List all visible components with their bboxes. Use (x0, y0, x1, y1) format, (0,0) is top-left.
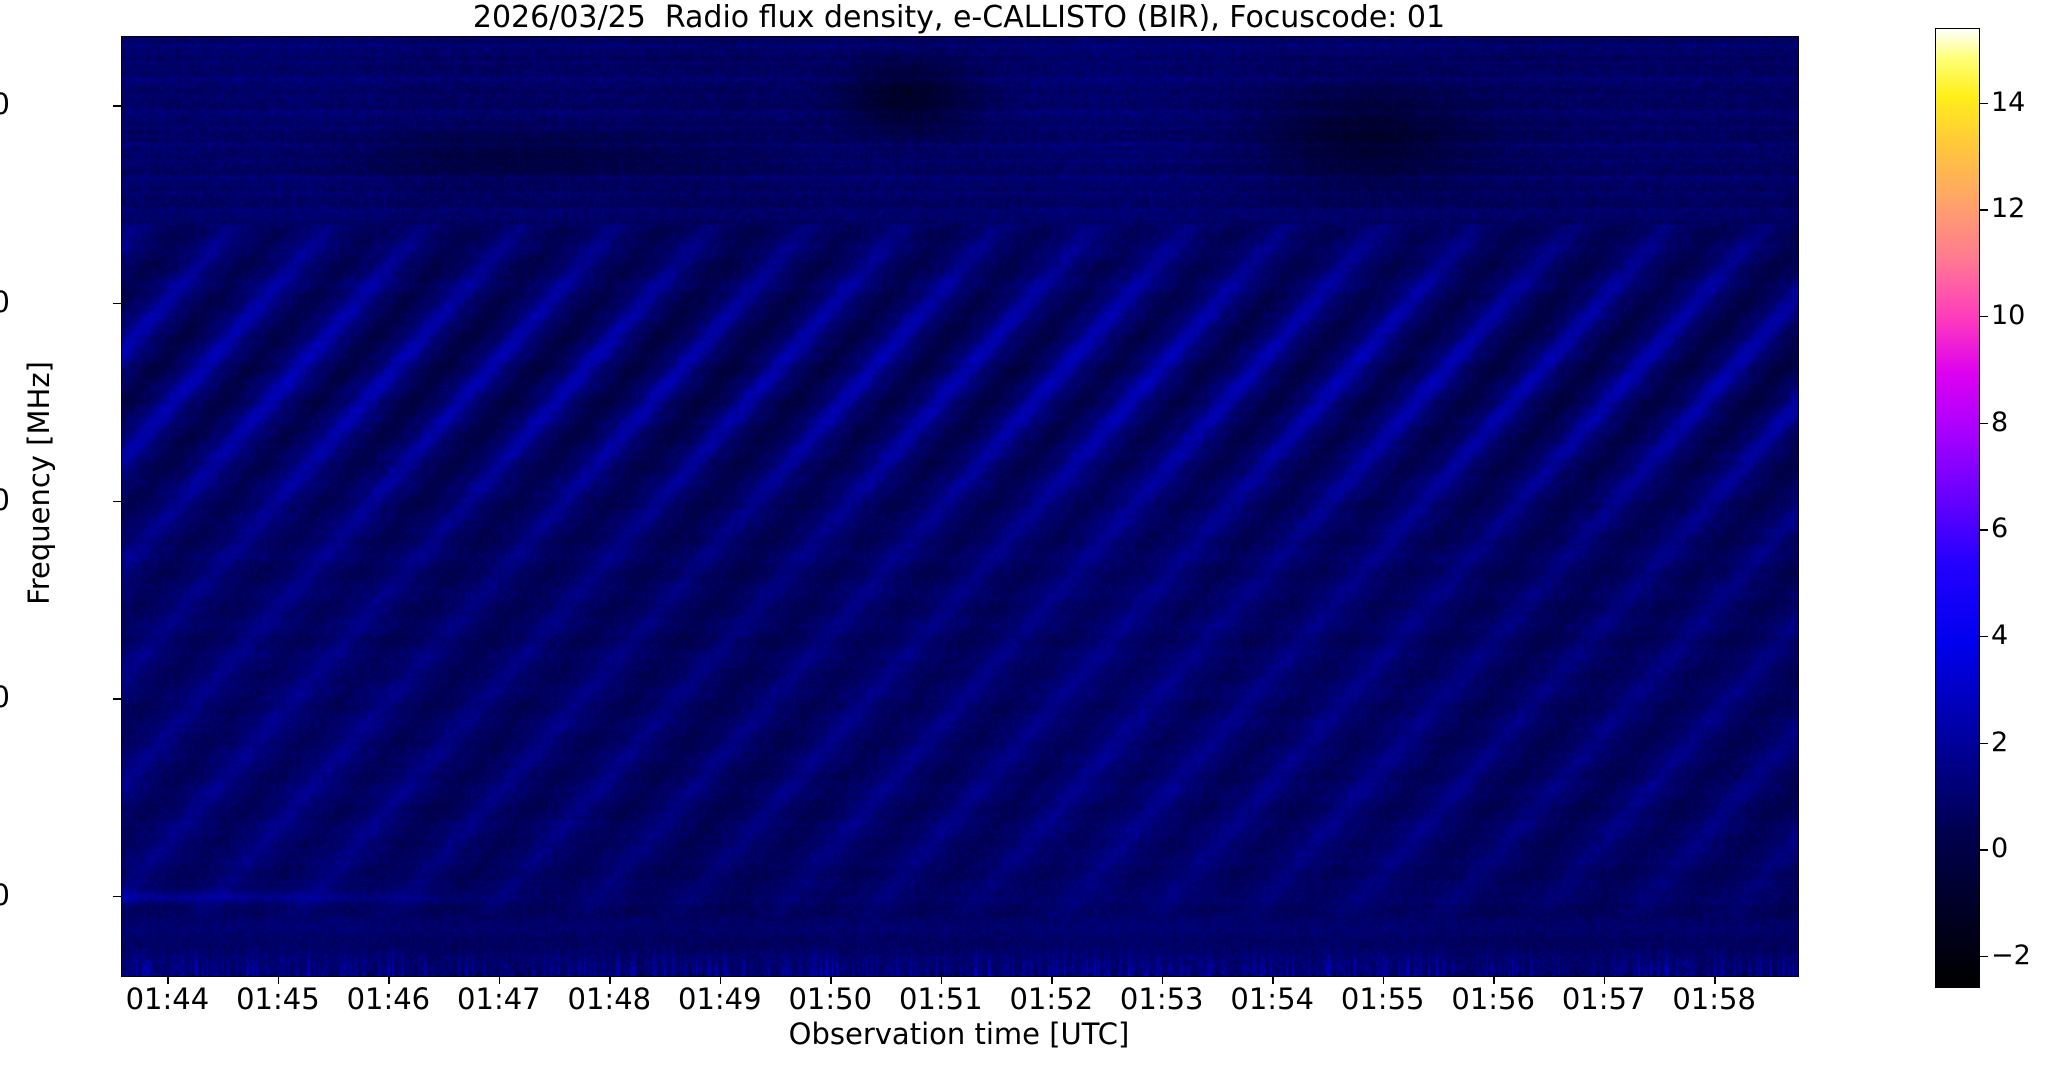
colorbar-tick-mark (1980, 103, 1988, 104)
y-tick-mark (113, 501, 121, 502)
y-tick-label: 60 (0, 486, 10, 515)
y-axis-label: Frequency [MHz] (22, 163, 56, 803)
colorbar-tick-label: 8 (1991, 409, 2066, 436)
colorbar-tick-mark (1980, 636, 1988, 637)
colorbar-tick-mark (1980, 743, 1988, 744)
y-tick-label: 80 (0, 288, 10, 317)
colorbar (1935, 28, 1980, 988)
x-tick-mark (1714, 976, 1715, 984)
colorbar-gradient (1935, 28, 1980, 988)
x-tick-mark (499, 976, 500, 984)
colorbar-tick-label: 12 (1991, 195, 2066, 222)
x-tick-mark (609, 976, 610, 984)
y-tick-label: 40 (0, 683, 10, 712)
y-tick-mark (113, 105, 121, 106)
colorbar-tick-label: 6 (1991, 515, 2066, 542)
y-tick-label: 100 (0, 90, 10, 119)
x-tick-mark (1604, 976, 1605, 984)
colorbar-tick-label: 4 (1991, 622, 2066, 649)
y-tick-mark (113, 303, 121, 304)
x-tick-mark (1162, 976, 1163, 984)
y-tick-mark (113, 896, 121, 897)
x-tick-mark (1051, 976, 1052, 984)
x-tick-mark (167, 976, 168, 984)
colorbar-tick-label: 0 (1991, 835, 2066, 862)
x-tick-mark (388, 976, 389, 984)
colorbar-tick-label: 14 (1991, 89, 2066, 116)
colorbar-tick-mark (1980, 529, 1988, 530)
colorbar-tick-label: 2 (1991, 729, 2066, 756)
spectrogram-image (122, 37, 1798, 976)
spectrogram-figure: 2026/03/25 Radio flux density, e-CALLIST… (0, 0, 2066, 1067)
y-tick-label: 20 (0, 881, 10, 910)
x-tick-mark (278, 976, 279, 984)
colorbar-tick-mark (1980, 423, 1988, 424)
colorbar-tick-label: 10 (1991, 302, 2066, 329)
colorbar-tick-mark (1980, 849, 1988, 850)
x-tick-mark (1272, 976, 1273, 984)
x-tick-mark (1383, 976, 1384, 984)
y-tick-mark (113, 698, 121, 699)
x-tick-label: 01:58 (1634, 985, 1794, 1014)
spectrogram-plot-area (121, 36, 1799, 977)
x-tick-mark (830, 976, 831, 984)
colorbar-tick-label: −2 (1991, 942, 2066, 969)
colorbar-tick-mark (1980, 956, 1988, 957)
x-tick-mark (941, 976, 942, 984)
x-tick-mark (1493, 976, 1494, 984)
colorbar-tick-mark (1980, 316, 1988, 317)
colorbar-tick-mark (1980, 209, 1988, 210)
x-tick-mark (720, 976, 721, 984)
x-axis-label: Observation time [UTC] (121, 1017, 1797, 1051)
page-title: 2026/03/25 Radio flux density, e-CALLIST… (121, 2, 1797, 34)
